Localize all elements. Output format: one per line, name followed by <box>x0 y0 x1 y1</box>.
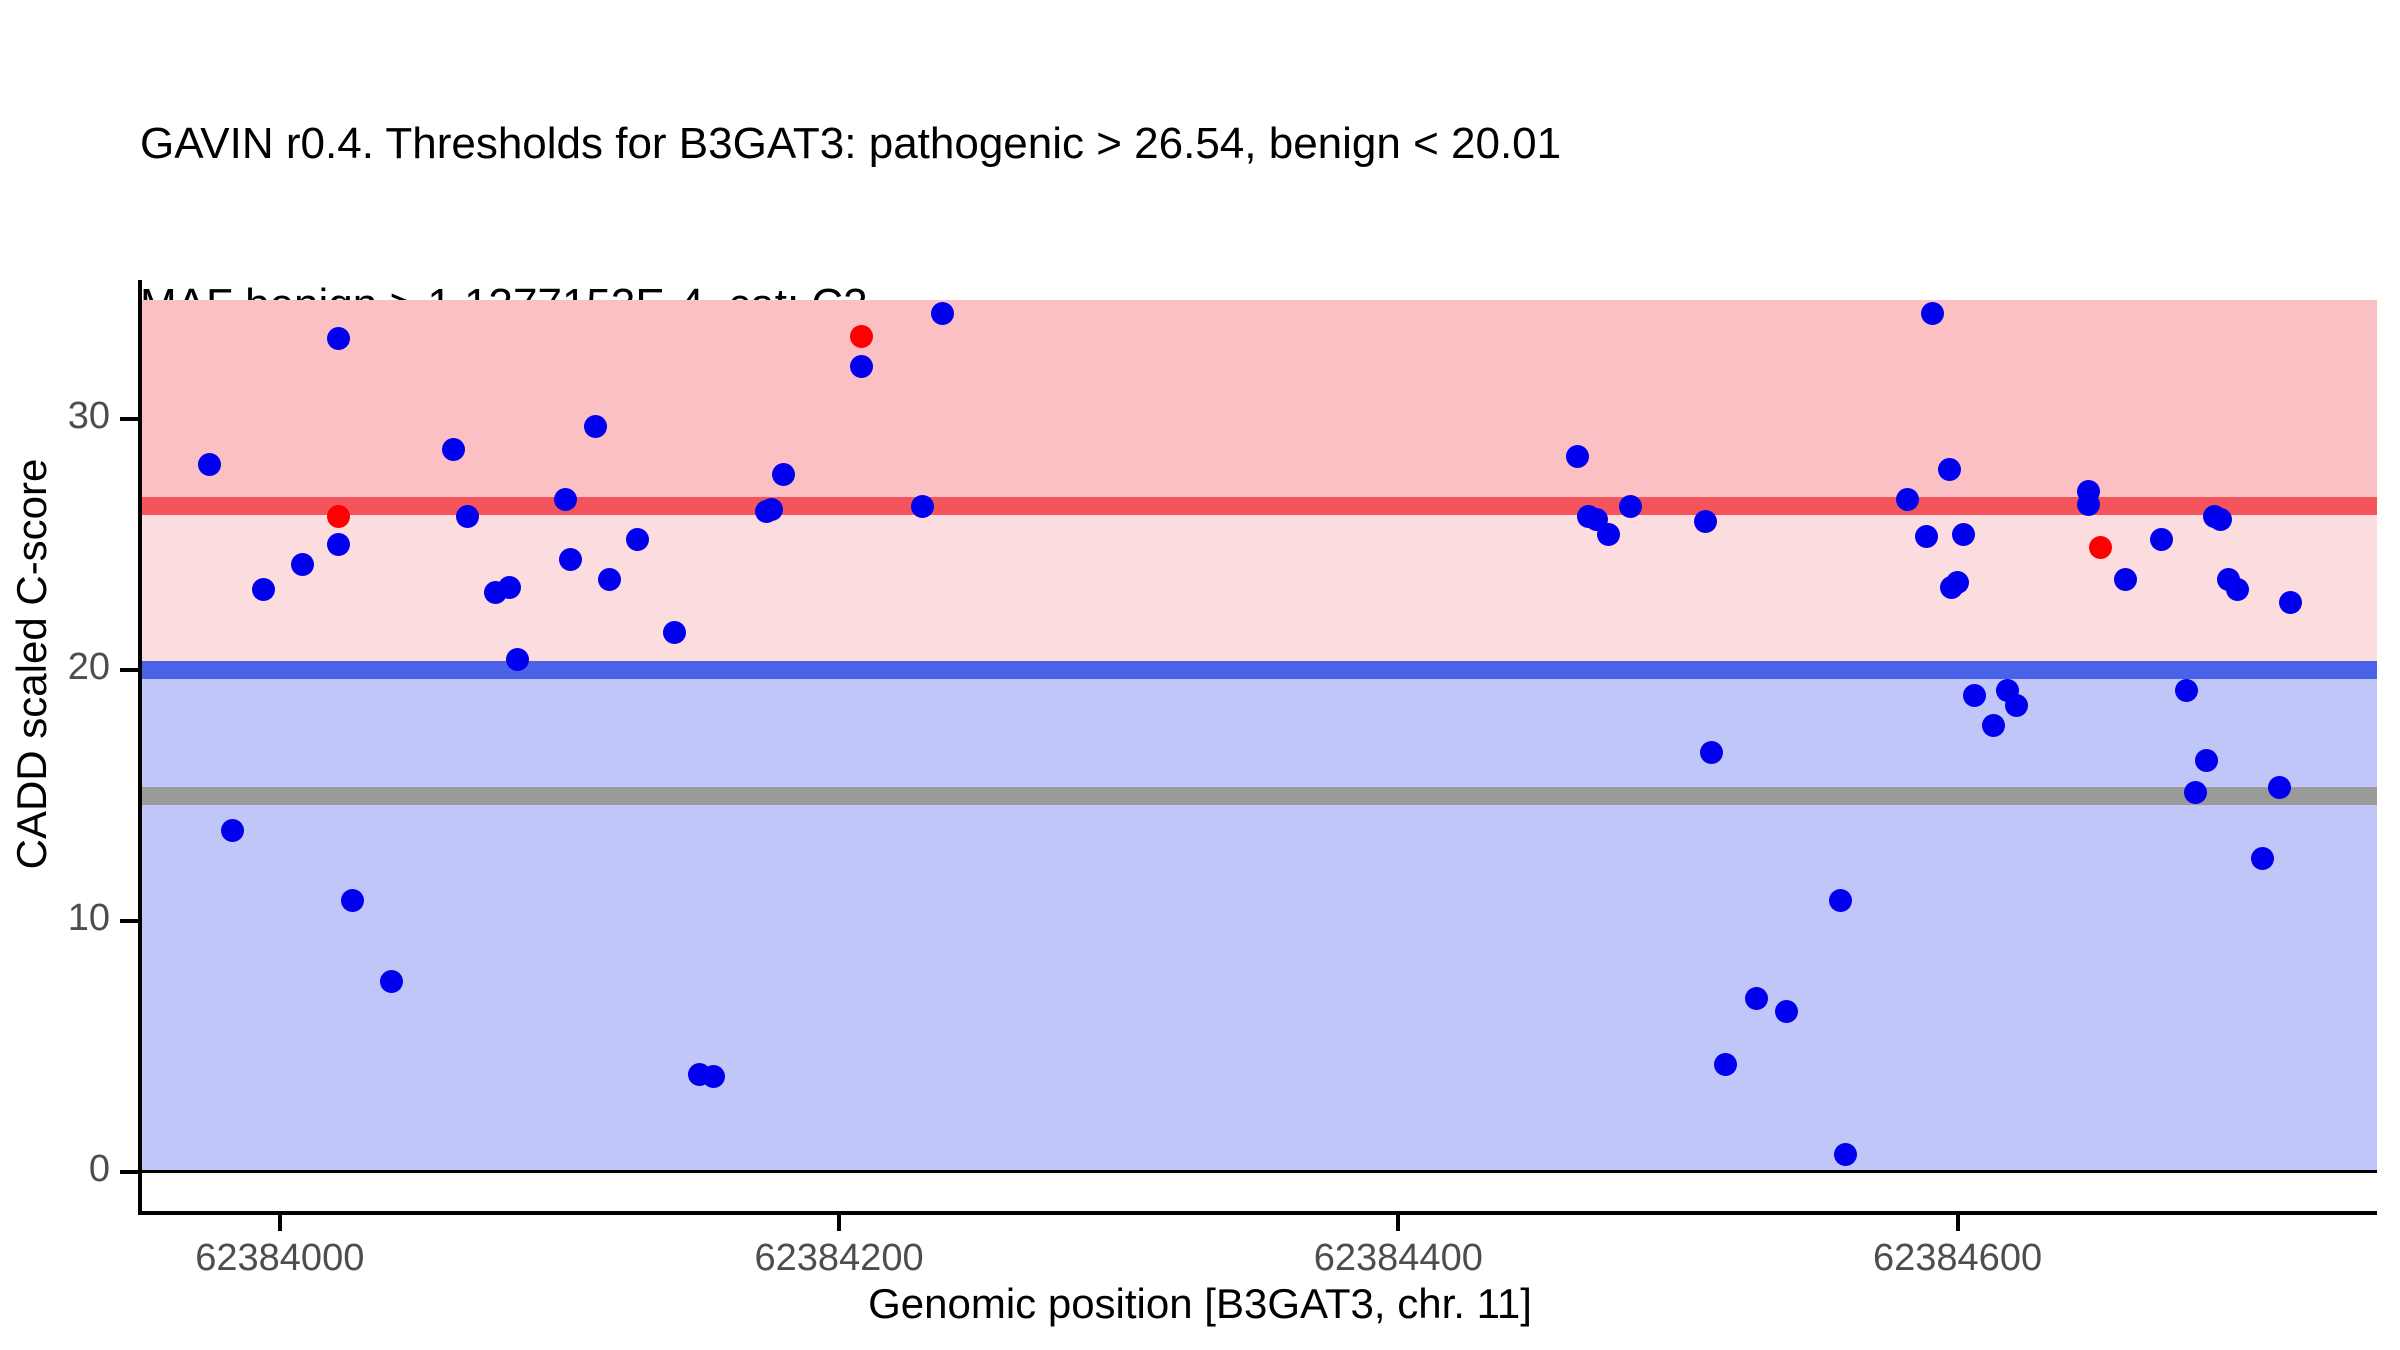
gnomad-variant-point <box>2209 508 2232 531</box>
gnomad-variant-point <box>1982 714 2005 737</box>
gnomad-variant-point <box>1834 1143 1857 1166</box>
y-tick-10 <box>120 919 138 923</box>
gnomad-variant-point <box>1938 458 1961 481</box>
x-axis-line <box>138 1211 2377 1215</box>
x-tick-label-62384200: 62384200 <box>689 1237 989 1280</box>
gnomad-variant-point <box>931 302 954 325</box>
gnomad-variant-point <box>1597 523 1620 546</box>
x-tick-62384600 <box>1956 1215 1960 1231</box>
gnomad-variant-point <box>1952 523 1975 546</box>
gnomad-variant-point <box>2268 776 2291 799</box>
gnomad-variant-point <box>498 576 521 599</box>
gnomad-variant-point <box>2005 694 2028 717</box>
y-tick-label-0: 0 <box>0 1148 110 1191</box>
band-pathogenic-zone <box>140 300 2377 506</box>
gnomad-variant-point <box>2150 528 2173 551</box>
gnomad-variant-point <box>1714 1053 1737 1076</box>
x-tick-label-62384400: 62384400 <box>1248 1237 1548 1280</box>
clinvar-pathogenic-point <box>850 325 873 348</box>
band-intermediate-zone <box>140 506 2377 670</box>
title-line-1: GAVIN r0.4. Thresholds for B3GAT3: patho… <box>140 117 2380 171</box>
gnomad-variant-point <box>2195 749 2218 772</box>
gnomad-variant-point <box>1896 488 1919 511</box>
gnomad-variant-point <box>1946 571 1969 594</box>
gnomad-variant-point <box>1745 987 1768 1010</box>
threshold-line-benign <box>140 661 2377 679</box>
x-tick-62384200 <box>837 1215 841 1231</box>
x-tick-62384400 <box>1396 1215 1400 1231</box>
gnomad-variant-point <box>559 548 582 571</box>
y-tick-20 <box>120 668 138 672</box>
gnomad-variant-point <box>198 453 221 476</box>
gnomad-variant-point <box>772 463 795 486</box>
y-axis-title: CADD scaled C-score <box>8 264 56 1064</box>
threshold-bands-layer <box>140 280 2377 1213</box>
y-axis-line <box>138 280 142 1213</box>
threshold-line-genome-wide-fallback <box>140 787 2377 805</box>
gnomad-variant-point <box>327 533 350 556</box>
x-tick-62384000 <box>278 1215 282 1231</box>
band-benign-zone <box>140 670 2377 1172</box>
gnomad-variant-point <box>456 505 479 528</box>
gnomad-variant-point <box>2251 847 2274 870</box>
x-tick-label-62384600: 62384600 <box>1808 1237 2108 1280</box>
gnomad-variant-point <box>1921 302 1944 325</box>
gnomad-variant-point <box>221 819 244 842</box>
gnomad-variant-point <box>702 1065 725 1088</box>
gnomad-variant-point <box>252 578 275 601</box>
gnomad-variant-point <box>663 621 686 644</box>
gnomad-variant-point <box>1566 445 1589 468</box>
y-tick-30 <box>120 417 138 421</box>
gnomad-variant-point <box>291 553 314 576</box>
y-tick-0 <box>120 1170 138 1174</box>
gnomad-variant-point <box>380 970 403 993</box>
zero-baseline <box>140 1170 2377 1173</box>
clinvar-pathogenic-point <box>2089 536 2112 559</box>
gnomad-variant-point <box>2226 578 2249 601</box>
gnomad-variant-point <box>1829 889 1852 912</box>
x-tick-label-62384000: 62384000 <box>130 1237 430 1280</box>
plot-panel <box>140 280 2377 1213</box>
gnomad-variant-point <box>2175 679 2198 702</box>
gnomad-variant-point <box>2114 568 2137 591</box>
gnomad-variant-point <box>1963 684 1986 707</box>
gnomad-variant-point <box>442 438 465 461</box>
x-axis-title: Genomic position [B3GAT3, chr. 11] <box>700 1280 1700 1328</box>
gnomad-variant-point <box>554 488 577 511</box>
gnomad-variant-point <box>850 355 873 378</box>
gnomad-variant-point <box>2279 591 2302 614</box>
